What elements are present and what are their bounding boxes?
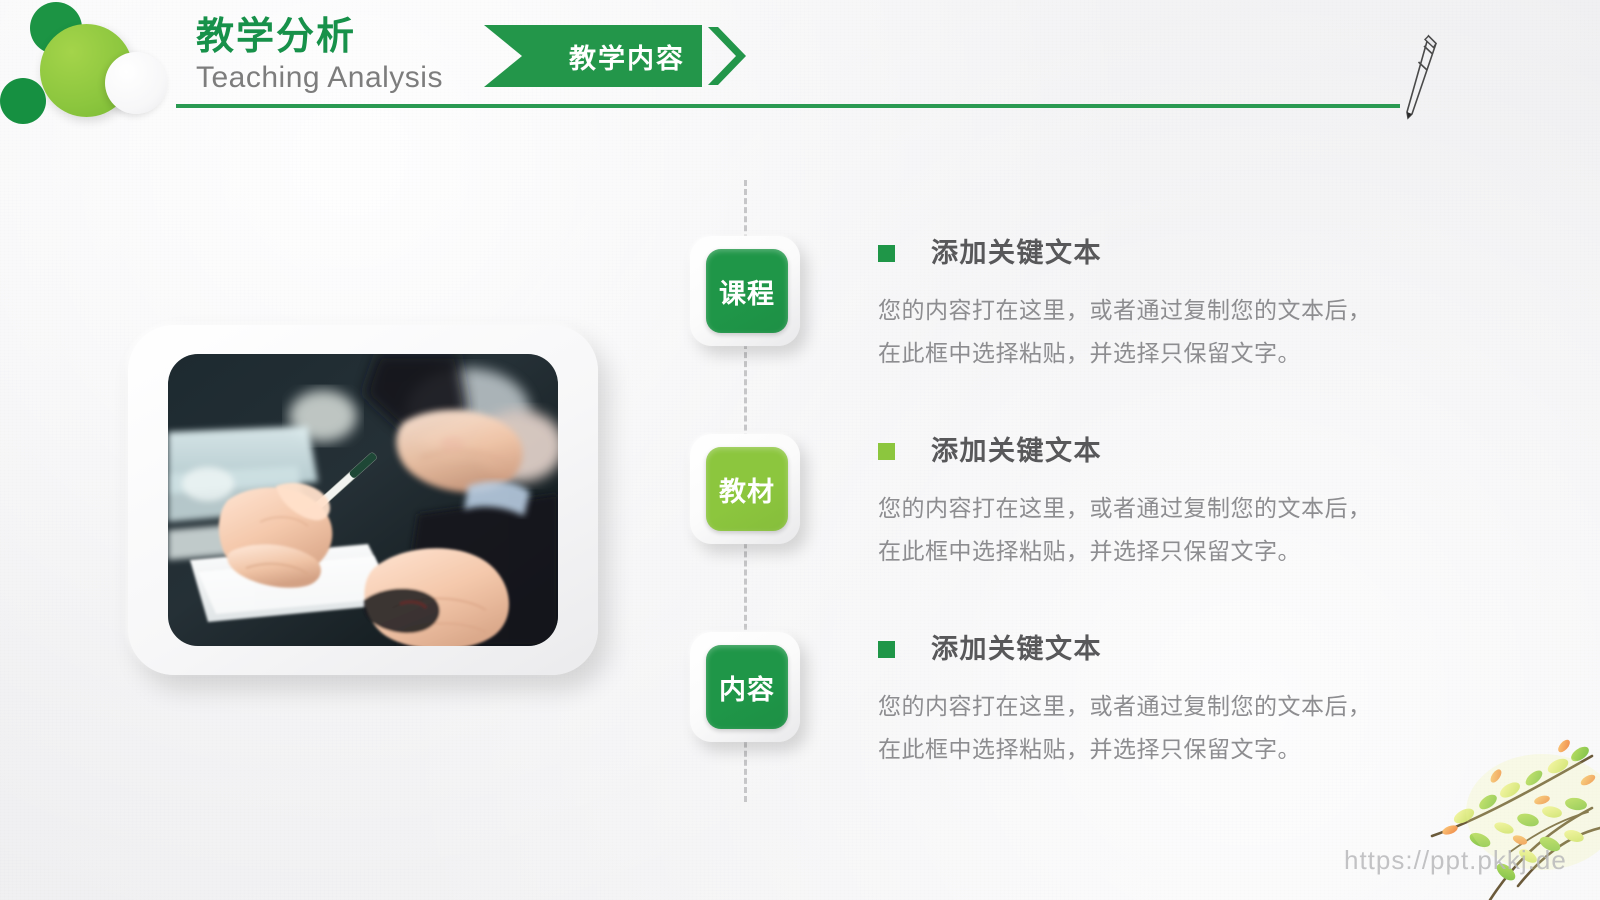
page-title-cn: 教学分析 — [196, 18, 496, 58]
tile-textbook[interactable]: 教材 — [690, 434, 800, 544]
content-text-block: 添加关键文本 您的内容打在这里，或者通过复制您的文本后， 在此框中选择粘贴，并选… — [878, 240, 1438, 374]
page-title-en: Teaching Analysis — [196, 62, 496, 94]
content-heading-line: 添加关键文本 — [878, 438, 1438, 465]
tile-label: 教材 — [706, 447, 788, 531]
pen-icon — [1398, 34, 1440, 126]
circle-white-icon — [105, 52, 167, 114]
content-text-block: 添加关键文本 您的内容打在这里，或者通过复制您的文本后， 在此框中选择粘贴，并选… — [878, 438, 1438, 572]
content-row: 教材 添加关键文本 您的内容打在这里，或者通过复制您的文本后， 在此框中选择粘贴… — [690, 434, 1440, 584]
content-body-line: 您的内容打在这里，或者通过复制您的文本后， — [878, 487, 1438, 530]
tile-label: 内容 — [706, 645, 788, 729]
tile-course[interactable]: 课程 — [690, 236, 800, 346]
page-title: 教学分析 Teaching Analysis — [196, 18, 496, 93]
content-body: 您的内容打在这里，或者通过复制您的文本后， 在此框中选择粘贴，并选择只保留文字。 — [878, 487, 1438, 572]
tile-content[interactable]: 内容 — [690, 632, 800, 742]
content-body: 您的内容打在这里，或者通过复制您的文本后， 在此框中选择粘贴，并选择只保留文字。 — [878, 685, 1438, 770]
content-body-line: 您的内容打在这里，或者通过复制您的文本后， — [878, 685, 1438, 728]
bullet-square-icon — [878, 245, 895, 262]
bullet-square-icon — [878, 443, 895, 460]
content-body-line: 在此框中选择粘贴，并选择只保留文字。 — [878, 530, 1438, 573]
content-heading-line: 添加关键文本 — [878, 240, 1438, 267]
content-row: 内容 添加关键文本 您的内容打在这里，或者通过复制您的文本后， 在此框中选择粘贴… — [690, 632, 1440, 782]
content-row: 课程 添加关键文本 您的内容打在这里，或者通过复制您的文本后， 在此框中选择粘贴… — [690, 236, 1440, 386]
content-body: 您的内容打在这里，或者通过复制您的文本后， 在此框中选择粘贴，并选择只保留文字。 — [878, 289, 1438, 374]
section-ribbon: 教学内容 — [484, 25, 754, 87]
photo-image — [168, 354, 558, 646]
watermark-url: https://ppt.pkkj.de — [1344, 845, 1567, 876]
content-heading: 添加关键文本 — [931, 438, 1102, 465]
circle-dark-green-bottom-icon — [0, 78, 46, 124]
bullet-square-icon — [878, 641, 895, 658]
photo-frame — [128, 325, 598, 675]
content-heading: 添加关键文本 — [931, 636, 1102, 663]
slide-canvas: 教学分析 Teaching Analysis 教学内容 — [0, 0, 1600, 900]
content-body-line: 在此框中选择粘贴，并选择只保留文字。 — [878, 332, 1438, 375]
content-heading: 添加关键文本 — [931, 240, 1102, 267]
content-text-block: 添加关键文本 您的内容打在这里，或者通过复制您的文本后， 在此框中选择粘贴，并选… — [878, 636, 1438, 770]
ribbon-label: 教学内容 — [552, 25, 702, 87]
content-body-line: 在此框中选择粘贴，并选择只保留文字。 — [878, 728, 1438, 771]
header-divider — [176, 104, 1400, 108]
content-heading-line: 添加关键文本 — [878, 636, 1438, 663]
tile-label: 课程 — [706, 249, 788, 333]
content-body-line: 您的内容打在这里，或者通过复制您的文本后， — [878, 289, 1438, 332]
